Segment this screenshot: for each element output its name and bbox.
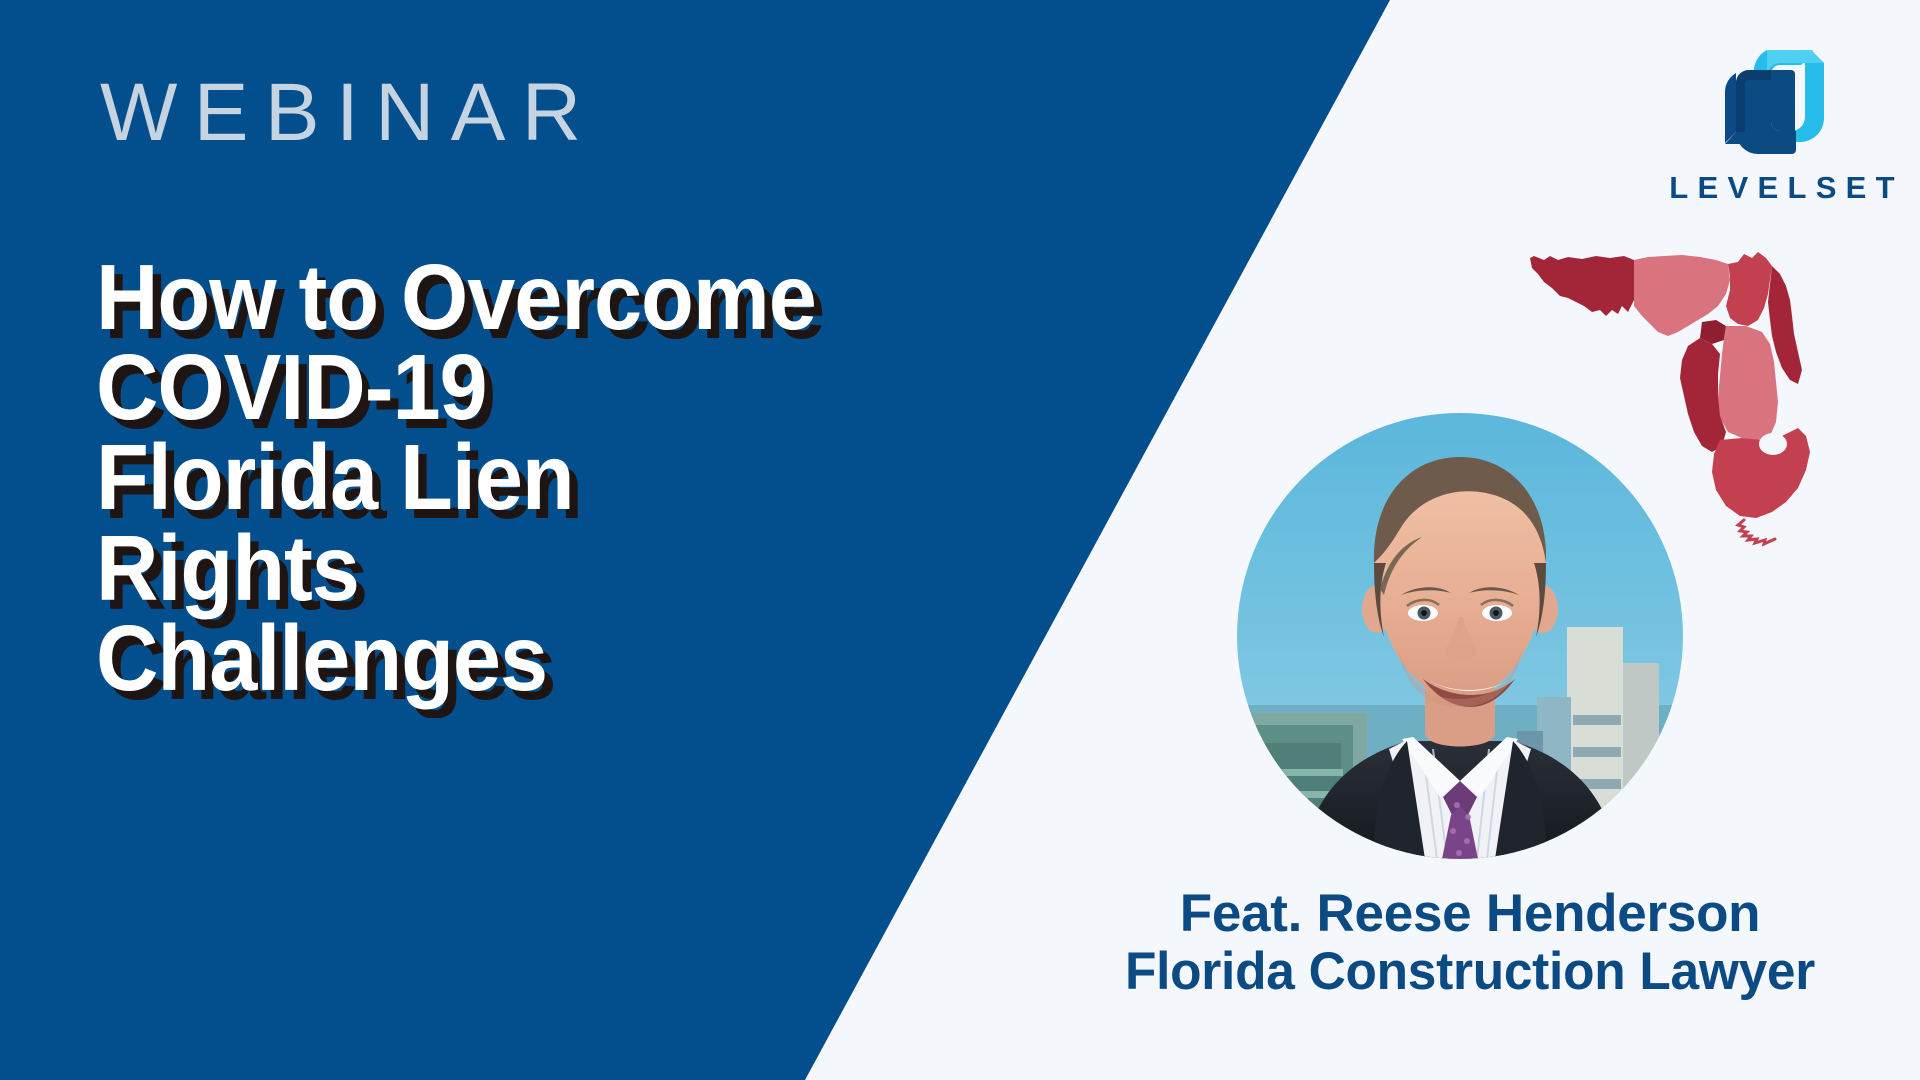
speaker-caption: Feat. Reese Henderson Florida Constructi… [1050,885,1890,1002]
map-florida-keys [1738,520,1775,544]
map-region-panhandle [1530,256,1634,316]
speaker-title: Florida Construction Lawyer [1063,943,1878,1001]
map-region-northeast [1726,252,1772,326]
speaker-headshot-image [1237,413,1683,859]
headline: How to Overcome COVID-19 Florida Lien Ri… [96,252,868,703]
headline-line-4: Rights [96,523,868,613]
map-lake-okeechobee [1759,433,1787,455]
speaker-name: Feat. Reese Henderson [1050,885,1890,943]
eyebrow-label: WEBINAR [100,72,598,154]
headline-line-3: Florida Lien [96,432,868,522]
headline-line-5: Challenges [96,613,868,703]
levelset-wordmark: LEVELSET [1660,172,1890,203]
webinar-promo-graphic: WEBINAR How to Overcome COVID-19 Florida… [0,0,1920,1080]
left-content-column: WEBINAR How to Overcome COVID-19 Florida… [96,0,936,1080]
map-region-central [1718,326,1778,440]
headline-line-1: How to Overcome [96,252,868,342]
levelset-logo-mark-icon [1723,48,1827,158]
speaker-headshot [1237,413,1683,859]
headline-line-2: COVID-19 [96,342,868,432]
levelset-logo: LEVELSET [1660,48,1890,203]
